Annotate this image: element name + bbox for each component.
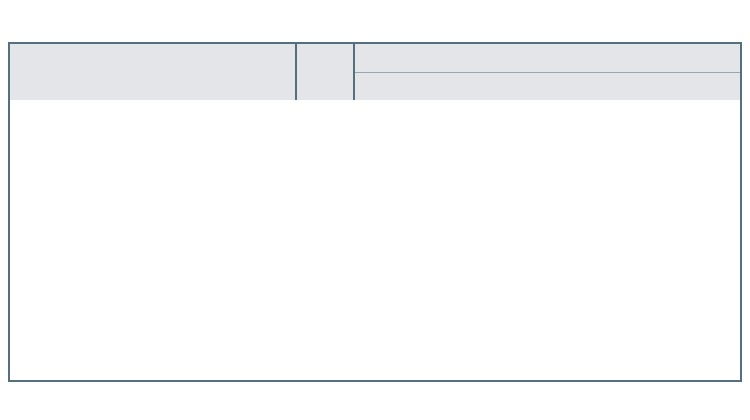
table-body: [10, 100, 740, 380]
lineup-table: [8, 42, 742, 382]
header-vdss-cell: [295, 44, 355, 100]
header-chart-cell: [355, 44, 740, 100]
chart-axis: [355, 72, 740, 101]
page-title: [0, 0, 750, 28]
header-package-cell: [10, 44, 295, 100]
table-header: [10, 44, 740, 100]
